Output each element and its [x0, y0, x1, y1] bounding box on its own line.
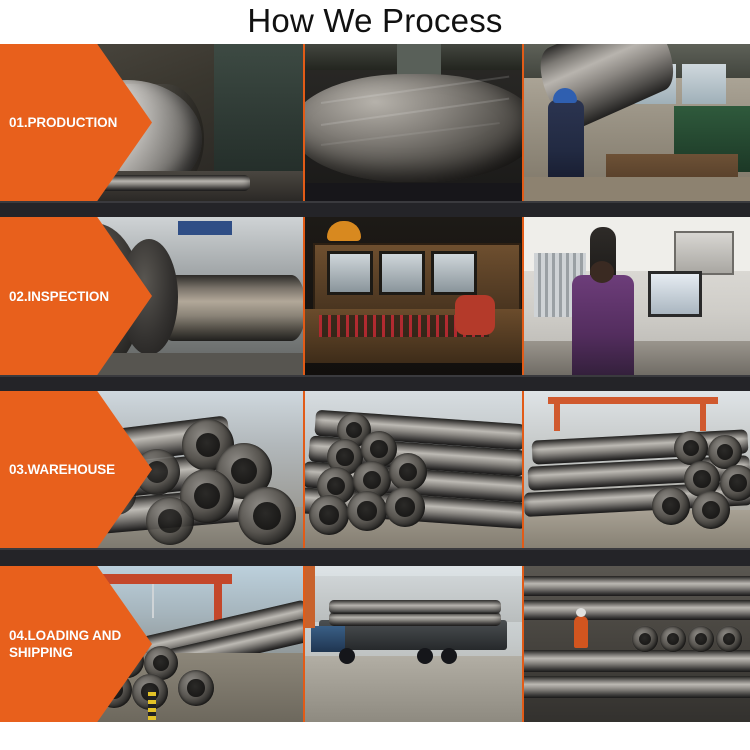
step-label: 03.WAREHOUSE [0, 461, 119, 478]
photo-production-2 [305, 44, 524, 201]
photo-loading-2 [305, 566, 524, 722]
step-label: 01.PRODUCTION [0, 114, 121, 131]
photo-warehouse-3 [524, 391, 750, 548]
photo-warehouse-2 [305, 391, 524, 548]
step-label: 04.LOADING AND SHIPPING [0, 627, 125, 661]
row-separator-2 [0, 375, 750, 391]
process-infographic: How We Process [0, 0, 750, 750]
process-step-row-inspection: 02.INSPECTION [0, 217, 750, 375]
photo-production-3 [524, 44, 750, 201]
process-step-row-production: 01.PRODUCTION [0, 44, 750, 201]
step-label: 02.INSPECTION [0, 288, 113, 305]
row-separator-1 [0, 201, 750, 217]
photo-inspection-2 [305, 217, 524, 375]
process-step-row-warehouse: 03.WAREHOUSE [0, 391, 750, 548]
photo-loading-3 [524, 566, 750, 722]
row-separator-3 [0, 548, 750, 566]
photo-inspection-3 [524, 217, 750, 375]
process-step-row-loading-and-shipping: 04.LOADING AND SHIPPING [0, 566, 750, 722]
page-title: How We Process [0, 0, 750, 44]
